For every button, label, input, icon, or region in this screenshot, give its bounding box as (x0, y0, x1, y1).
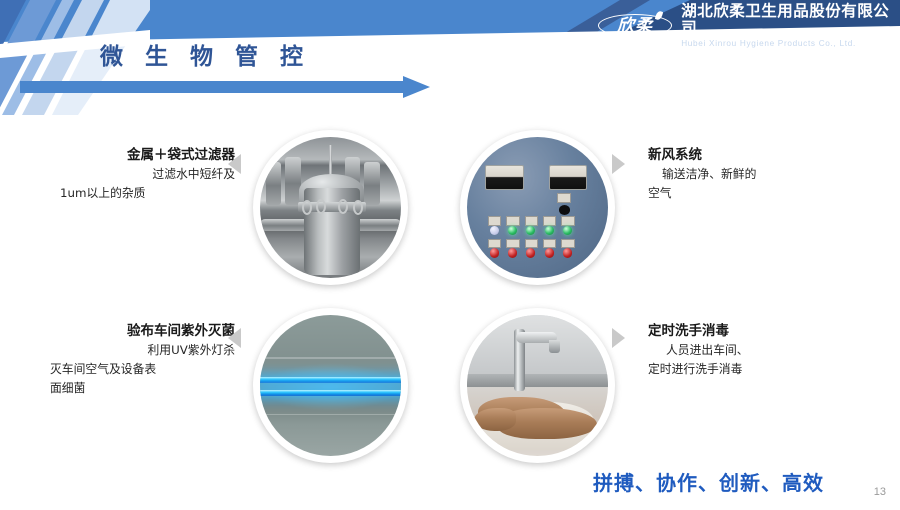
company-logo-group: 欣柔 湖北欣柔卫生用品股份有限公司 Hubei Xinrou Hygiene P… (598, 3, 900, 49)
item-heading: 金属＋袋式过滤器 (60, 146, 235, 165)
handwashing-photo (467, 315, 608, 456)
image-clip (467, 315, 608, 456)
item-body-line-3: 面细菌 (50, 379, 235, 398)
panel-button-icon (559, 205, 570, 215)
item-body-line-1: 利用UV紫外灯杀 (50, 341, 235, 360)
item-heading: 新风系统 (648, 146, 848, 165)
page-title: 微 生 物 管 控 (100, 42, 310, 72)
item-body-line-2: 1um以上的杂质 (60, 184, 235, 203)
arrow-svg (20, 76, 430, 100)
item-metal-bag-filter-text: 金属＋袋式过滤器 过滤水中短纤及 1um以上的杂质 (60, 146, 235, 203)
footer-slogan: 拼搏、协作、创新、高效 (593, 467, 824, 496)
triangle-left-icon (228, 154, 241, 174)
item-scheduled-handwash-text: 定时洗手消毒 人员进出车间、 定时进行洗手消毒 (648, 322, 858, 379)
control-panel-photo (467, 137, 608, 278)
item-body-line-2: 灭车间空气及设备表 (50, 360, 235, 379)
uv-lamp-photo (260, 315, 401, 456)
image-control-panel (460, 130, 615, 285)
image-handwashing (460, 308, 615, 463)
item-heading: 定时洗手消毒 (648, 322, 858, 341)
item-fresh-air-system-text: 新风系统 输送洁净、新鲜的 空气 (648, 146, 848, 203)
image-clip (260, 315, 401, 456)
item-body-line-1: 人员进出车间、 (648, 341, 858, 360)
triangle-right-icon (612, 154, 625, 174)
gauge-left (485, 165, 524, 190)
company-name-block: 湖北欣柔卫生用品股份有限公司 Hubei Xinrou Hygiene Prod… (681, 3, 900, 49)
panel-tag (557, 193, 570, 203)
image-clip (467, 137, 608, 278)
item-uv-sterilization-text: 验布车间紫外灭菌 利用UV紫外灯杀 灭车间空气及设备表 面细菌 (50, 322, 235, 398)
page-title-row: 微 生 物 管 控 (100, 42, 310, 72)
triangle-right-icon (612, 328, 625, 348)
item-body-line-2: 定时进行洗手消毒 (648, 360, 858, 379)
image-filter-vessel (253, 130, 408, 285)
item-heading: 验布车间紫外灭菌 (50, 322, 235, 341)
gauge-right (549, 165, 588, 190)
image-clip (260, 137, 401, 278)
item-body-line-1: 输送洁净、新鲜的 (648, 165, 848, 184)
item-body-line-1: 过滤水中短纤及 (60, 165, 235, 184)
company-name-en: Hubei Xinrou Hygiene Products Co., Ltd. (681, 38, 900, 49)
company-name-cn: 湖北欣柔卫生用品股份有限公司 (681, 3, 900, 37)
page-number: 13 (874, 486, 886, 498)
title-arrow-underline (20, 76, 430, 100)
image-uv-lamp (253, 308, 408, 463)
filter-vessel-photo (260, 137, 401, 278)
xinrou-logo-icon: 欣柔 (598, 11, 674, 41)
triangle-left-icon (228, 328, 241, 348)
item-body-line-2: 空气 (648, 184, 848, 203)
